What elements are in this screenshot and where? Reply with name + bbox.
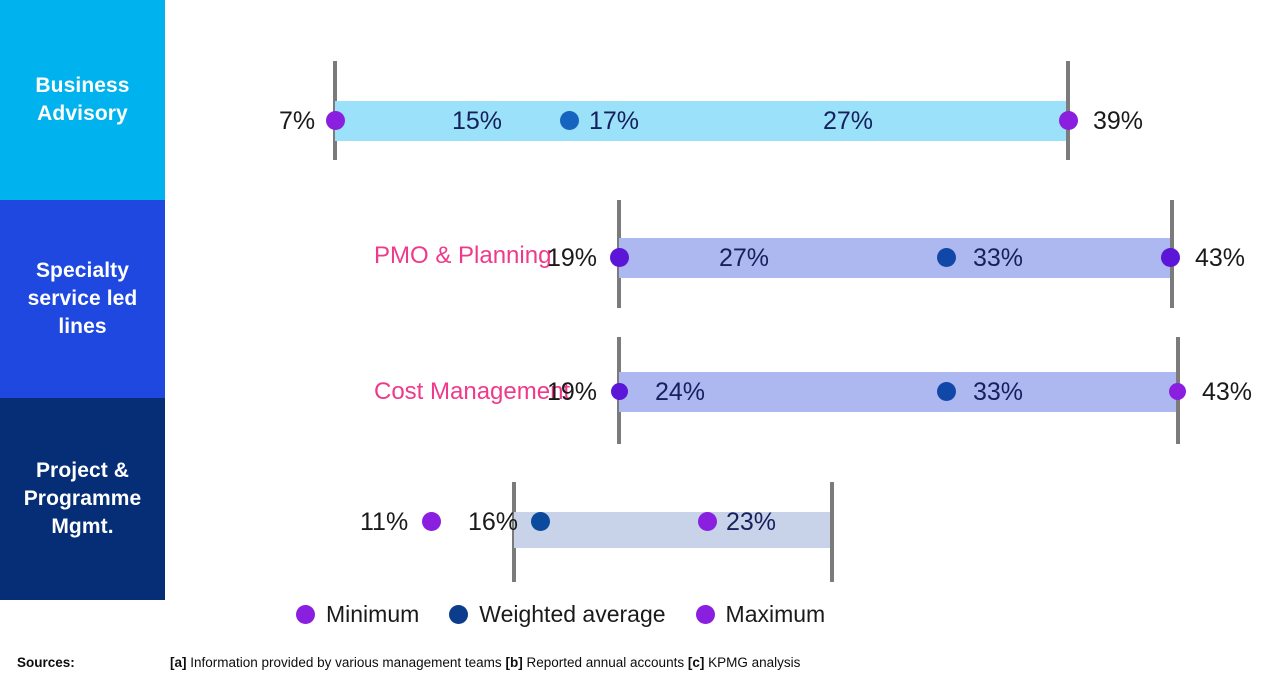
chart-plot-area: 7% 15% 17% 27% 39% PMO & Planning 19% 27… [0, 0, 1280, 600]
sources-label: Sources: [0, 655, 170, 670]
sources-footer: Sources: [a] Information provided by var… [0, 648, 1280, 676]
maximum-dot-icon [696, 605, 715, 624]
source-text-c: KPMG analysis [708, 655, 800, 670]
range-bar-row4 [514, 512, 834, 548]
lower-quartile-value-row4: 16% [468, 510, 518, 535]
maximum-dot-row4 [698, 512, 717, 531]
source-tag-c: [c] [688, 655, 705, 670]
legend-label-weighted-average: Weighted average [479, 603, 665, 626]
legend-label-minimum: Minimum [326, 603, 419, 626]
legend-item-minimum[interactable]: Minimum [296, 603, 419, 626]
minimum-value-row4: 11% [360, 510, 408, 535]
max-whisker-row4 [830, 482, 834, 582]
legend-label-maximum: Maximum [726, 603, 826, 626]
minimum-dot-icon [296, 605, 315, 624]
legend-item-weighted-average[interactable]: Weighted average [449, 603, 665, 626]
upper-quartile-value-row4: 23% [726, 510, 776, 535]
chart-legend: Minimum Weighted average Maximum [296, 600, 855, 628]
source-text-a: Information provided by various manageme… [190, 655, 501, 670]
sources-text: [a] Information provided by various mana… [170, 655, 800, 670]
source-text-b: Reported annual accounts [526, 655, 684, 670]
chart-row-project-programme-mgmt: 11% 16% 23% [0, 0, 1280, 600]
source-tag-a: [a] [170, 655, 187, 670]
minimum-dot-row4 [422, 512, 441, 531]
weighted-average-dot-icon [449, 605, 468, 624]
legend-item-maximum[interactable]: Maximum [696, 603, 826, 626]
source-tag-b: [b] [505, 655, 522, 670]
weighted-average-dot-row4 [531, 512, 550, 531]
